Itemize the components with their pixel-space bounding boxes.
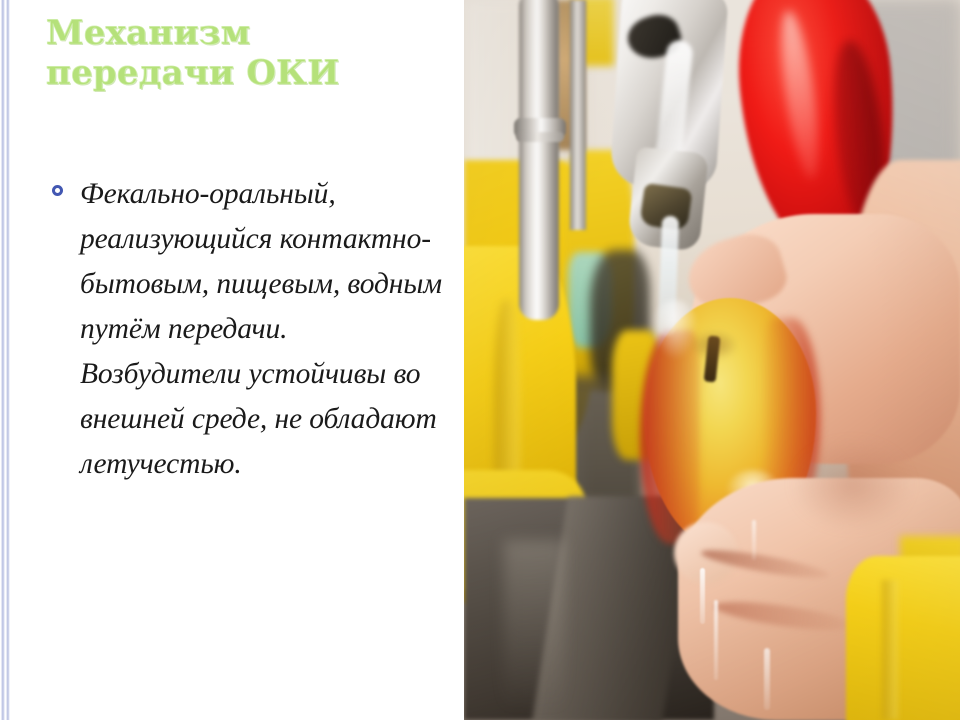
bullet-text: Фекально-оральный, реализующийся контакт… [80,172,452,487]
page-title: Механизм передачи ОКИ [46,14,446,94]
left-edge-stripe [0,0,11,720]
slide-photo [464,0,960,720]
body-content: Фекально-оральный, реализующийся контакт… [52,172,452,487]
bullet-marker [52,172,80,196]
hollow-circle-icon [52,185,63,196]
slide: Механизм передачи ОКИ Фекально-оральный,… [0,0,960,720]
list-item: Фекально-оральный, реализующийся контакт… [52,172,452,487]
photo-vignette [464,0,960,720]
